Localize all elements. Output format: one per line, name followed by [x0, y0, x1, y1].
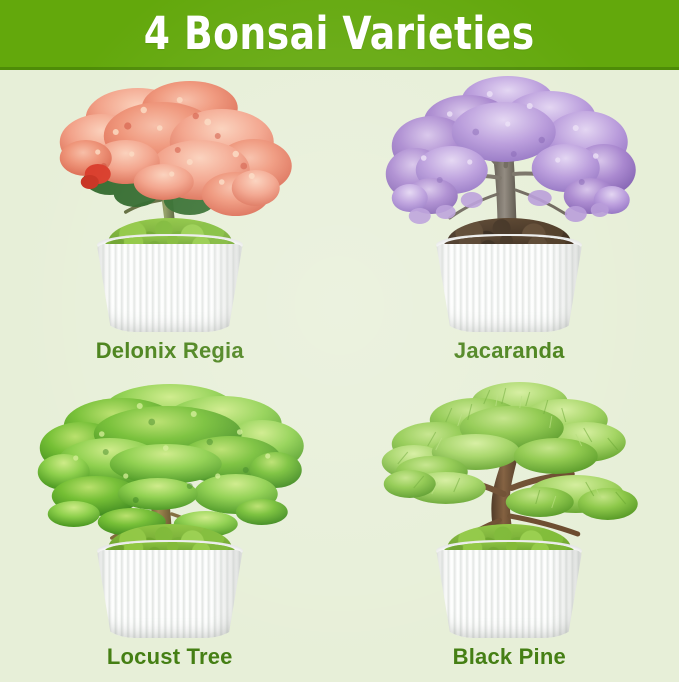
variety-label-delonix-regia: Delonix Regia [96, 338, 244, 372]
plant-illustration-delonix-regia [0, 70, 340, 338]
variety-card-jacaranda[interactable]: Jacaranda [340, 70, 679, 376]
plant-illustration-locust-tree [0, 376, 340, 644]
plant-pot-jacaranda [436, 234, 582, 332]
bonsai-varieties-page: 4 Bonsai Varieties [0, 0, 679, 679]
variety-card-black-pine[interactable]: Black Pine [340, 376, 679, 682]
plant-pot-locust-tree [97, 540, 243, 638]
variety-label-locust-tree: Locust Tree [107, 644, 233, 678]
variety-card-locust-tree[interactable]: Locust Tree [0, 376, 340, 682]
plant-illustration-black-pine [340, 376, 679, 644]
pot-body-black-pine [436, 550, 582, 638]
variety-label-black-pine: Black Pine [453, 644, 566, 678]
varieties-grid: Delonix Regia [0, 70, 679, 679]
header-banner: 4 Bonsai Varieties [0, 0, 679, 70]
pot-body-delonix [97, 244, 243, 332]
variety-card-delonix-regia[interactable]: Delonix Regia [0, 70, 340, 376]
page-title: 4 Bonsai Varieties [144, 11, 535, 56]
plant-illustration-jacaranda [340, 70, 679, 338]
delonix-flower-canopy [60, 81, 292, 216]
plant-pot-delonix-regia [97, 234, 243, 332]
plant-pot-black-pine [436, 540, 582, 638]
variety-label-jacaranda: Jacaranda [454, 338, 565, 372]
pot-body-locust [97, 550, 243, 638]
black-pine-needle-pads [381, 382, 637, 520]
pot-body-jacaranda [436, 244, 582, 332]
